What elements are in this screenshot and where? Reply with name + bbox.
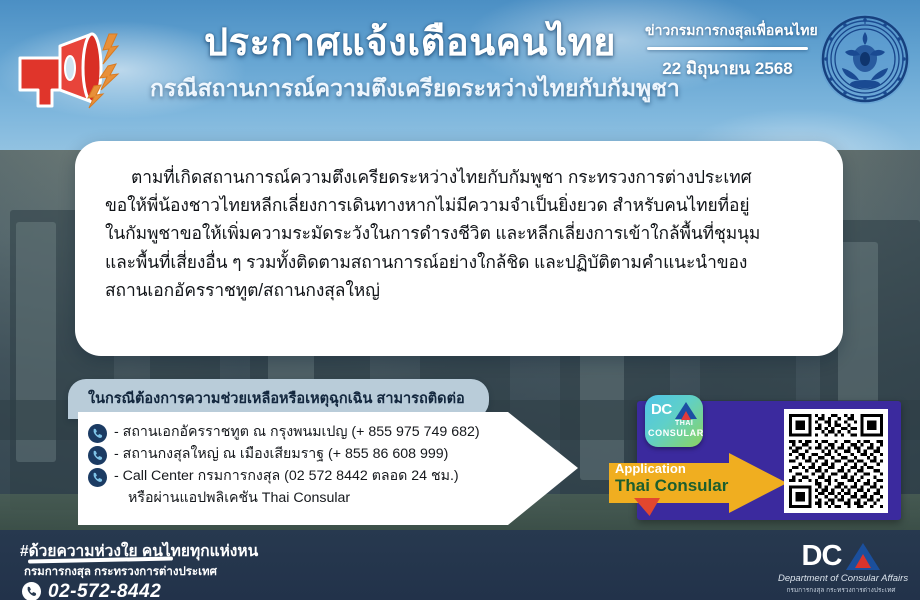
- footer-department: กรมการกงสุล กระทรวงการต่างประเทศ: [24, 563, 217, 581]
- announcement-line-4: และพื้นที่เสี่ยงอื่น ๆ รวมทั้งติดตามสถาน…: [105, 248, 813, 276]
- arrow-accent-icon: [634, 498, 660, 516]
- phone-icon: [22, 582, 41, 600]
- divider: [647, 47, 808, 50]
- app-icon-thai-text: THAI: [675, 420, 693, 427]
- list-item: - Call Center กรมการกงสุล (02 572 8442 ต…: [88, 466, 558, 488]
- dca-logo-en: Department of Consular Affairs: [778, 573, 904, 584]
- announcement-line-3: ในกัมพูชาขอให้เพิ่มความระมัดระวังในการดำ…: [105, 219, 813, 247]
- contact-list: - สถานเอกอัครราชทูต ณ กรุงพนมเปญ (+ 855 …: [88, 422, 558, 509]
- title-block: ประกาศแจ้งเตือนคนไทย กรณีสถานการณ์ความตึ…: [150, 22, 670, 107]
- app-promo-panel: DC THAI CONSULAR Application Thai Consul…: [637, 401, 901, 520]
- contact-item-app: หรือผ่านแอปพลิเคชัน Thai Consular: [88, 488, 558, 509]
- megaphone-icon: [8, 28, 128, 116]
- dca-logo: DC Department of Consular Affairs กรมการ…: [778, 541, 904, 595]
- poster: ประกาศแจ้งเตือนคนไทย กรณีสถานการณ์ความตึ…: [0, 0, 920, 600]
- app-icon-consular-text: CONSULAR: [648, 428, 703, 438]
- contact-item-callcenter: - Call Center กรมการกงสุล (02 572 8442 ต…: [114, 466, 459, 487]
- page-subtitle: กรณีสถานการณ์ความตึงเครียดระหว่างไทยกับก…: [150, 71, 670, 107]
- list-item: - สถานกงสุลใหญ่ ณ เมืองเสียมราฐ (+ 855 8…: [88, 444, 558, 466]
- dca-triangle-icon: [846, 543, 880, 570]
- announcement-card: ตามที่เกิดสถานการณ์ความตึงเครียดระหว่างไ…: [75, 141, 843, 356]
- qr-code[interactable]: [784, 409, 888, 513]
- news-date-block: ข่าวกรมการกงสุลเพื่อคนไทย 22 มิถุนายน 25…: [645, 20, 810, 82]
- announcement-line-5: สถานเอกอัครราชทูต/สถานกงสุลใหญ่: [105, 276, 813, 304]
- dca-logo-text: DC: [802, 542, 842, 571]
- phone-icon: [88, 424, 107, 443]
- promo-label-thai-consular: Thai Consular: [615, 476, 728, 496]
- contact-item-embassy: - สถานเอกอัครราชทูต ณ กรุงพนมเปญ (+ 855 …: [114, 422, 480, 443]
- contact-item-consulate: - สถานกงสุลใหญ่ ณ เมืองเสียมราฐ (+ 855 8…: [114, 444, 448, 465]
- thai-ministry-emblem-icon: [818, 12, 912, 106]
- phone-icon: [88, 468, 107, 487]
- page-title: ประกาศแจ้งเตือนคนไทย: [150, 22, 670, 65]
- phone-icon: [88, 446, 107, 465]
- list-item: - สถานเอกอัครราชทูต ณ กรุงพนมเปญ (+ 855 …: [88, 422, 558, 444]
- app-icon: DC THAI CONSULAR: [645, 395, 703, 447]
- footer-phone: 02-572-8442: [48, 581, 161, 600]
- announcement-line-1: ตามที่เกิดสถานการณ์ความตึงเครียดระหว่างไ…: [105, 163, 813, 191]
- header: ประกาศแจ้งเตือนคนไทย กรณีสถานการณ์ความตึ…: [0, 0, 920, 130]
- publish-date: 22 มิถุนายน 2568: [645, 55, 810, 82]
- app-icon-inner-triangle-icon: [681, 411, 691, 420]
- promo-label-application: Application: [615, 461, 686, 476]
- announcement-line-2: ขอให้พี่น้องชาวไทยหลีกเลี่ยงการเดินทางหา…: [105, 191, 813, 219]
- news-label: ข่าวกรมการกงสุลเพื่อคนไทย: [645, 20, 810, 42]
- app-icon-dc-text: DC: [651, 401, 672, 418]
- dca-logo-th: กรมการกงสุล กระทรวงการต่างประเทศ: [778, 585, 904, 595]
